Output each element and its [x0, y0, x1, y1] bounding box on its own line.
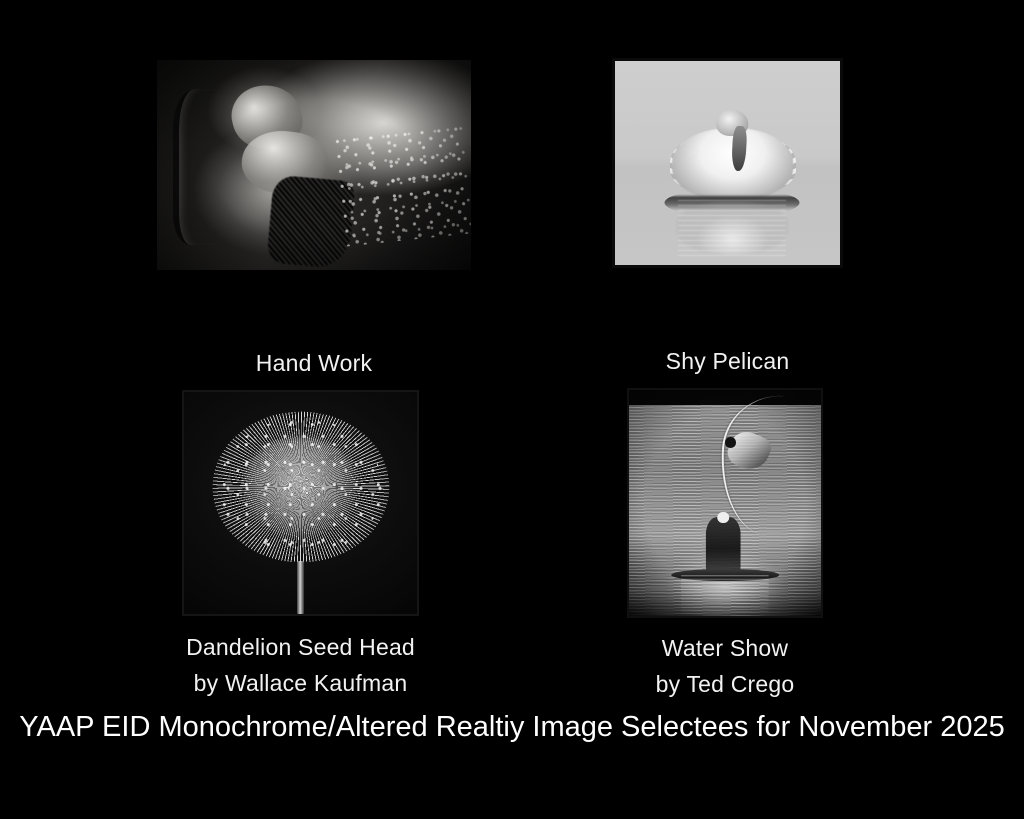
dandelion-stem-shape — [297, 561, 305, 614]
photo-title: Hand Work — [127, 346, 501, 382]
photo-caption-water-show: Water Show by Ted Crego — [545, 631, 905, 702]
photo-title: Water Show — [545, 631, 905, 667]
hands-knitting-artwork — [157, 60, 471, 270]
vignette-overlay — [629, 390, 821, 616]
water-show-acrobats-photo[interactable] — [627, 388, 823, 618]
water-show-artwork — [627, 388, 823, 618]
water-ripples-shape — [678, 200, 786, 257]
seed-tips-texture — [219, 419, 382, 557]
dandelion-artwork — [182, 390, 419, 616]
photo-author: by Wallace Kaufman — [102, 666, 499, 702]
vignette-overlay — [157, 60, 471, 270]
hands-knitting-photo[interactable] — [157, 60, 471, 270]
photo-title: Shy Pelican — [552, 344, 903, 380]
gallery-canvas: Hand Work by Dave Cook Shy Pelican by Ca… — [0, 0, 1024, 819]
photo-caption-dandelion: Dandelion Seed Head by Wallace Kaufman — [102, 630, 499, 701]
photo-title: Dandelion Seed Head — [102, 630, 499, 666]
dandelion-seed-head-photo[interactable] — [182, 390, 419, 616]
photo-author: by Ted Crego — [545, 667, 905, 703]
pelican-artwork — [612, 58, 843, 268]
pelican-on-water-photo[interactable] — [612, 58, 843, 268]
gallery-banner-title: YAAP EID Monochrome/Altered Realtiy Imag… — [0, 711, 1024, 744]
